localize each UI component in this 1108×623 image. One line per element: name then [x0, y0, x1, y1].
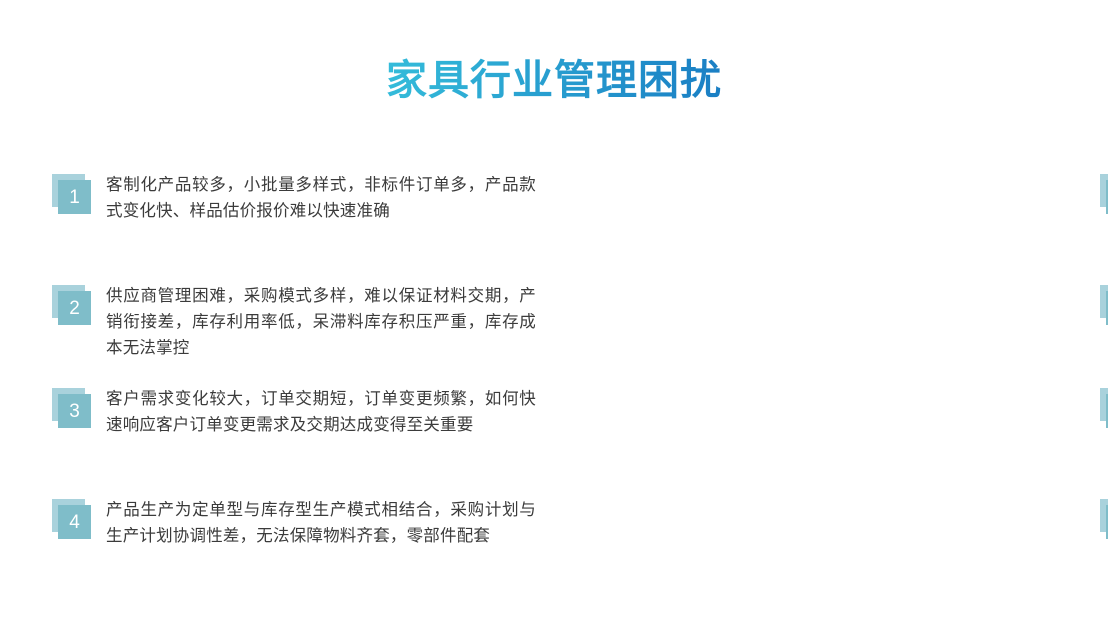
number-badge: 1: [52, 174, 92, 214]
list-item: 8 业务与财务断层，致使财务结算效率低，企业内部无法精准核算生产运营成本: [1100, 497, 1108, 549]
list-item-text: 客户需求变化较大，订单交期短，订单变更频繁，如何快速响应客户订单变更需求及交期达…: [106, 386, 536, 438]
number-badge: 8: [1100, 499, 1108, 539]
number-badge: 5: [1100, 174, 1108, 214]
list-item: 7 员工计件方式多样化，难以快速、及时统计，员工计件薪资核算困难: [1100, 386, 1108, 438]
content-columns: 1 客制化产品较多，小批量多样式，非标件订单多，产品款式变化快、样品估价报价难以…: [0, 160, 1108, 600]
badge-number: 3: [69, 402, 80, 421]
list-item-text: 客制化产品较多，小批量多样式，非标件订单多，产品款式变化快、样品估价报价难以快速…: [106, 172, 536, 224]
badge-number: 2: [69, 299, 80, 318]
list-item-text: 供应商管理困难，采购模式多样，难以保证材料交期，产销衔接差，库存利用率低，呆滞料…: [106, 283, 536, 361]
list-item: 6 产品齐套、订单齐套、物流进度难以监控和追踪，出货料件较多，无法保证发货准确、…: [1100, 283, 1108, 335]
page-title: 家具行业管理困扰: [386, 55, 722, 106]
number-badge: 3: [52, 388, 92, 428]
list-item: 4 产品生产为定单型与库存型生产模式相结合，采购计划与生产计划协调性差，无法保障…: [52, 497, 538, 549]
number-badge: 2: [52, 285, 92, 325]
badge-front-square: 3: [58, 394, 91, 428]
slide-canvas: 家具行业管理困扰 1 客制化产品较多，小批量多样式，非标件订单多，产品款式变化快…: [0, 0, 1108, 623]
number-badge: 4: [52, 499, 92, 539]
badge-front-square: 1: [58, 180, 91, 214]
badge-number: 1: [69, 188, 80, 207]
number-badge: 7: [1100, 388, 1108, 428]
list-item: 3 客户需求变化较大，订单交期短，订单变更频繁，如何快速响应客户订单变更需求及交…: [52, 386, 538, 438]
badge-number: 4: [69, 513, 80, 532]
title-container: 家具行业管理困扰: [0, 28, 1108, 134]
list-item-text: 产品生产为定单型与库存型生产模式相结合，采购计划与生产计划协调性差，无法保障物料…: [106, 497, 536, 549]
right-column: 5 生产现场进度管控困难，现场数据收集困难，员工生产效率无法统计、无法分析生产效…: [545, 160, 1108, 600]
number-badge: 6: [1100, 285, 1108, 325]
list-item: 5 生产现场进度管控困难，现场数据收集困难，员工生产效率无法统计、无法分析生产效…: [1100, 172, 1108, 224]
badge-front-square: 2: [58, 291, 91, 325]
list-item: 1 客制化产品较多，小批量多样式，非标件订单多，产品款式变化快、样品估价报价难以…: [52, 172, 538, 224]
badge-front-square: 4: [58, 505, 91, 539]
list-item: 2 供应商管理困难，采购模式多样，难以保证材料交期，产销衔接差，库存利用率低，呆…: [52, 283, 538, 361]
left-column: 1 客制化产品较多，小批量多样式，非标件订单多，产品款式变化快、样品估价报价难以…: [0, 160, 545, 600]
